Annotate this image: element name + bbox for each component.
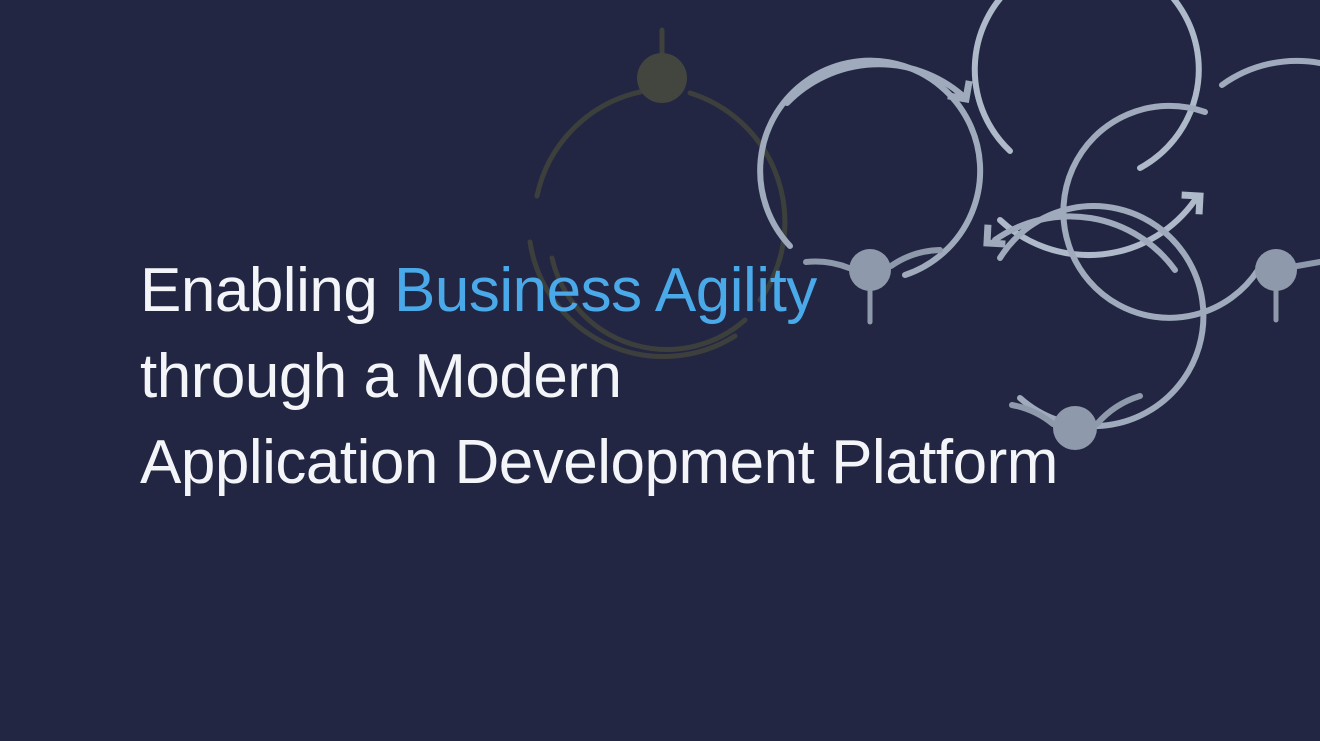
title-line-1-accent: Business Agility <box>394 256 817 325</box>
title-line-2-plain: through a Modern <box>140 342 621 411</box>
cycle-ring-upper-group <box>975 0 1199 255</box>
title-line-1-plain: Enabling <box>140 256 394 325</box>
title-line-2: through a Modern <box>140 334 1200 420</box>
title-line-1: Enabling Business Agility <box>140 248 1200 334</box>
title-line-3-plain: Application Development Platform <box>140 428 1058 497</box>
page-title: Enabling Business Agility through a Mode… <box>140 248 1200 506</box>
cycle-ring-center-group <box>760 61 980 275</box>
node-faint-top <box>637 30 687 103</box>
node-right <box>1255 249 1320 320</box>
arrowhead-upper-right <box>1182 186 1209 214</box>
arrowhead-center-top <box>948 81 977 107</box>
title-line-3: Application Development Platform <box>140 420 1200 506</box>
title-slide: Enabling Business Agility through a Mode… <box>0 0 1320 741</box>
